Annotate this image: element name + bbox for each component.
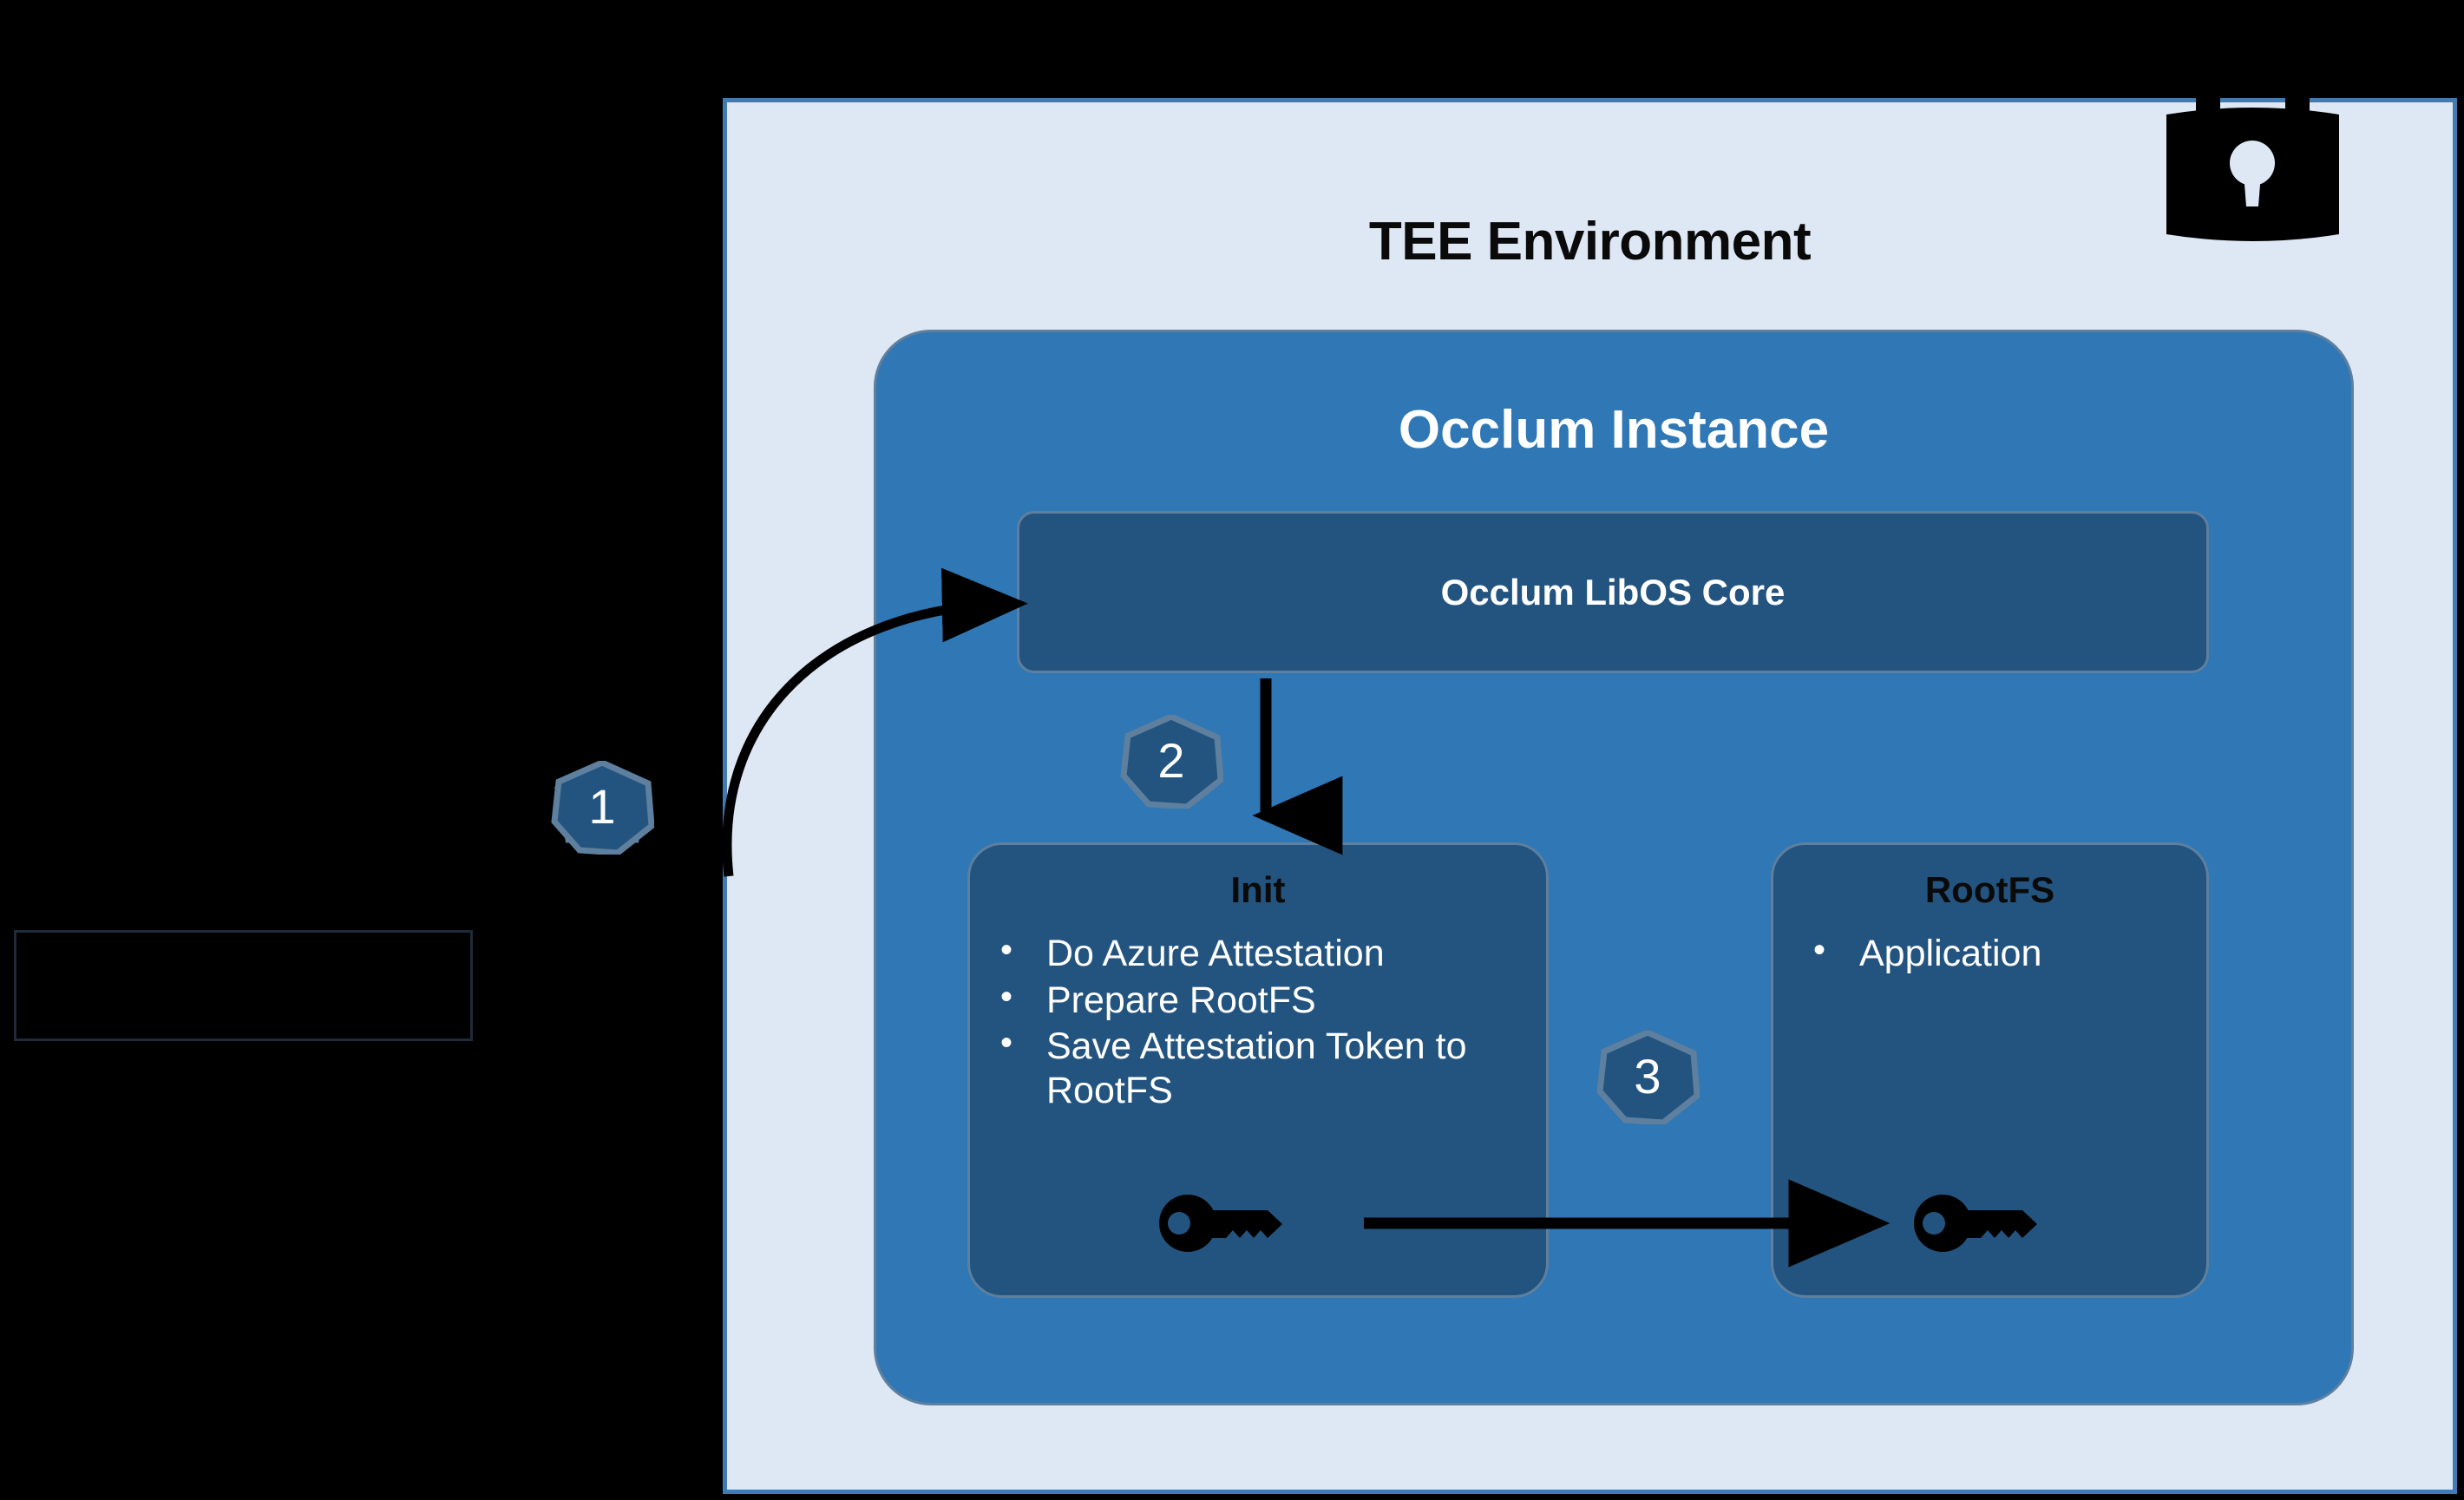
init-bullet-item: Save Attestation Token to RootFS (992, 1025, 1530, 1112)
init-bullet-text: Save Attestation Token to RootFS (1046, 1025, 1467, 1111)
step-badge-3: 3 (1596, 1031, 1700, 1124)
key-icon (1157, 1192, 1295, 1254)
init-bullet-item: Prepare RootFS (992, 979, 1530, 1023)
occlum-instance-title: Occlum Instance (876, 403, 2351, 457)
init-bullet-item: Do Azure Attestation (992, 932, 1530, 976)
step-badge-2: 2 (1119, 715, 1223, 809)
init-bullet-text: Do Azure Attestation (1046, 933, 1385, 974)
init-bullet-text: Prepare RootFS (1046, 979, 1316, 1021)
occlum-libos-core-label: Occlum LibOS Core (1441, 572, 1786, 613)
rootfs-bullet-list: Application (1805, 932, 2186, 979)
occlum-libos-core-box: Occlum LibOS Core (1017, 511, 2209, 673)
step-badge-2-label: 2 (1119, 715, 1223, 809)
step-badge-3-label: 3 (1596, 1031, 1700, 1124)
step-badge-1-label: 1 (550, 761, 654, 855)
rootfs-bullet-text: Application (1859, 933, 2041, 974)
left-empty-box (14, 930, 473, 1041)
lock-icon (2159, 42, 2346, 259)
rootfs-bullet-item: Application (1805, 932, 2186, 976)
init-title: Init (970, 869, 1546, 911)
init-bullet-list: Do Azure Attestation Prepare RootFS Save… (992, 932, 1530, 1116)
rootfs-title: RootFS (1773, 869, 2206, 911)
diagram-canvas: TEE Environment Occlum Instance Occlum L… (0, 0, 2464, 1500)
key-icon (1911, 1192, 2050, 1254)
step-badge-1: 1 (550, 761, 654, 855)
